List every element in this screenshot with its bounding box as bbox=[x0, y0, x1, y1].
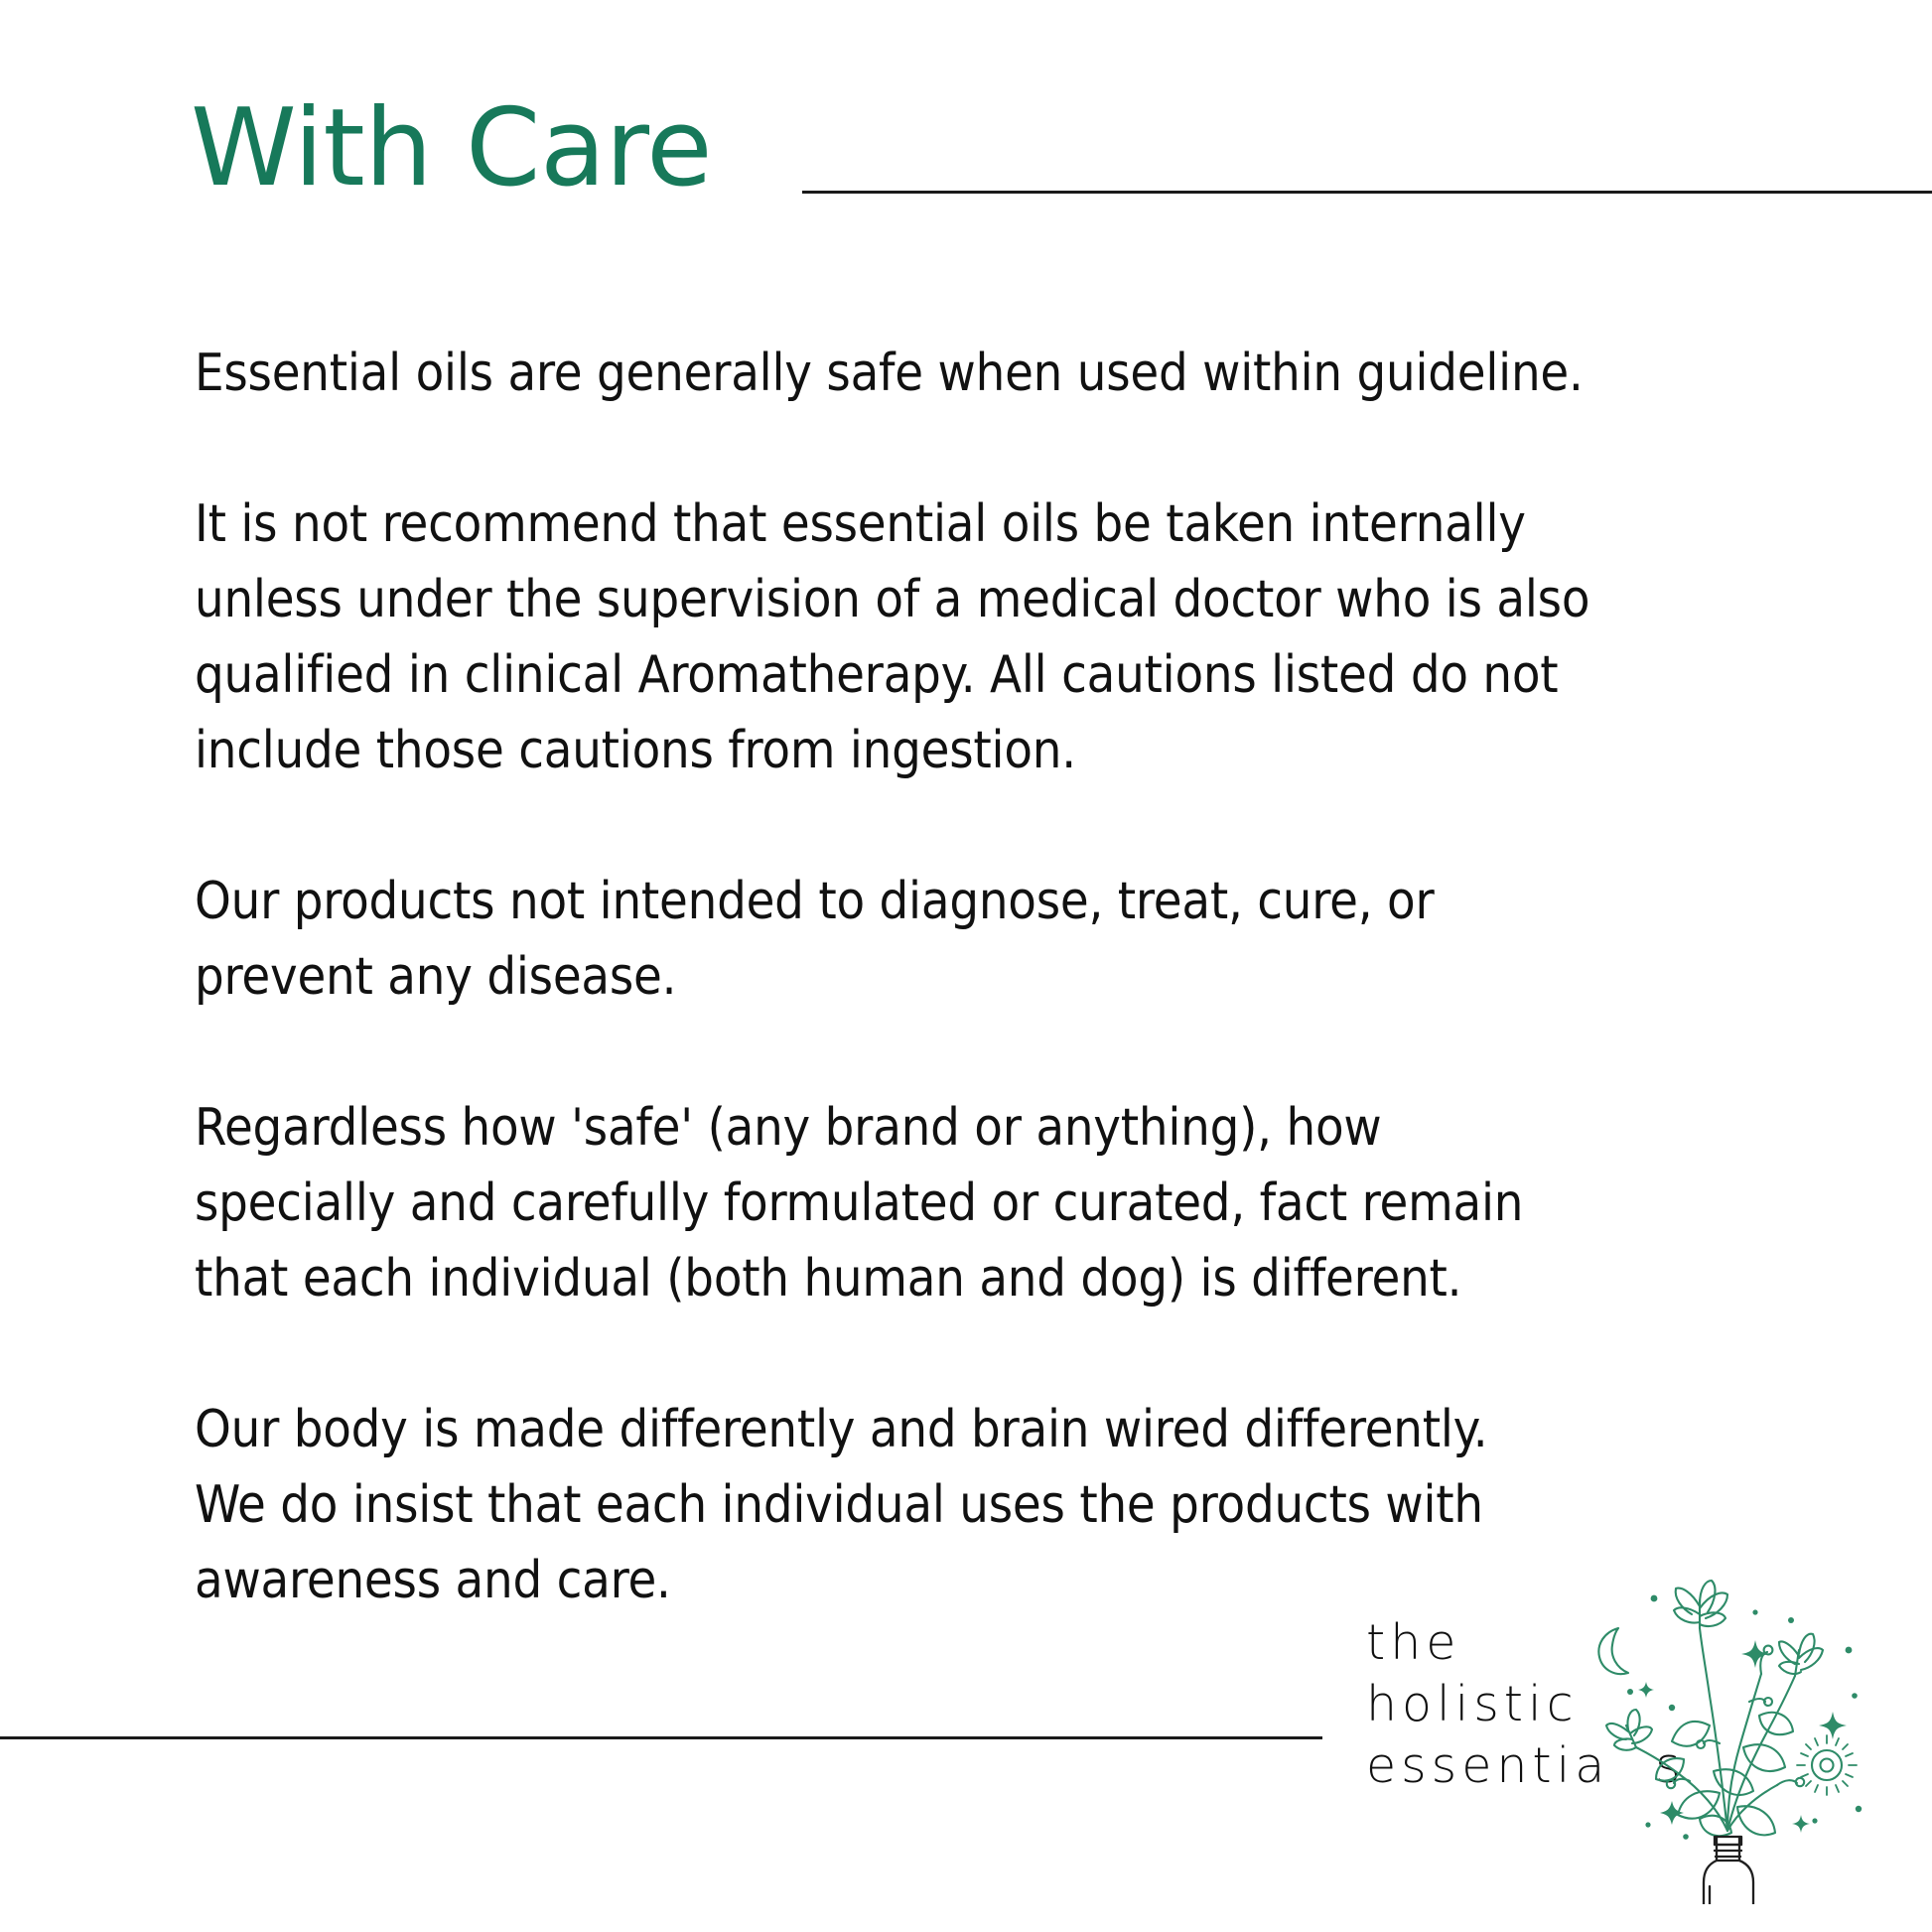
star-dots bbox=[1627, 1595, 1862, 1840]
header-divider bbox=[802, 191, 1932, 194]
text-line: Our body is made differently and brain w… bbox=[195, 1392, 1783, 1467]
page-title: With Care bbox=[191, 95, 712, 203]
text-line: Our products not intended to diagnose, t… bbox=[195, 864, 1783, 939]
botanical-illustration bbox=[1561, 1577, 1888, 1904]
text-line: It is not recommend that essential oils … bbox=[195, 486, 1783, 562]
leaves bbox=[1656, 1713, 1793, 1836]
text-line: prevent any disease. bbox=[195, 939, 1783, 1015]
text-line: qualified in clinical Aromatherapy. All … bbox=[195, 637, 1783, 713]
text-line: specially and carefully formulated or cu… bbox=[195, 1166, 1783, 1241]
text-line: Essential oils are generally safe when u… bbox=[195, 336, 1783, 411]
paragraph-safety-guideline: Essential oils are generally safe when u… bbox=[195, 336, 1783, 411]
dropper-bottle-icon bbox=[1704, 1837, 1753, 1904]
sun-icon bbox=[1797, 1735, 1857, 1795]
footer-divider bbox=[0, 1736, 1322, 1739]
paragraph-internal-use: It is not recommend that essential oils … bbox=[195, 486, 1783, 788]
text-line: unless under the supervision of a medica… bbox=[195, 562, 1783, 637]
flower-left bbox=[1606, 1710, 1652, 1750]
flower-stems bbox=[1636, 1628, 1795, 1831]
paragraph-individual-awareness: Our body is made differently and brain w… bbox=[195, 1392, 1783, 1618]
poster-canvas: With Care Essential oils are generally s… bbox=[0, 0, 1932, 1932]
text-line: We do insist that each individual uses t… bbox=[195, 1467, 1783, 1543]
text-line: Regardless how 'safe' (any brand or anyt… bbox=[195, 1090, 1783, 1166]
header: With Care bbox=[0, 95, 1932, 234]
text-line: that each individual (both human and dog… bbox=[195, 1241, 1783, 1316]
text-line: include those cautions from ingestion. bbox=[195, 713, 1783, 788]
paragraph-regardless-safe: Regardless how 'safe' (any brand or anyt… bbox=[195, 1090, 1783, 1316]
body-copy: Essential oils are generally safe when u… bbox=[195, 336, 1783, 1618]
paragraph-not-intended: Our products not intended to diagnose, t… bbox=[195, 864, 1783, 1015]
flower-top-left bbox=[1674, 1581, 1727, 1628]
flower-right bbox=[1779, 1634, 1823, 1676]
crescent-moon-icon bbox=[1598, 1628, 1628, 1674]
brand-logo: the holistic essentias bbox=[1366, 1587, 1902, 1904]
